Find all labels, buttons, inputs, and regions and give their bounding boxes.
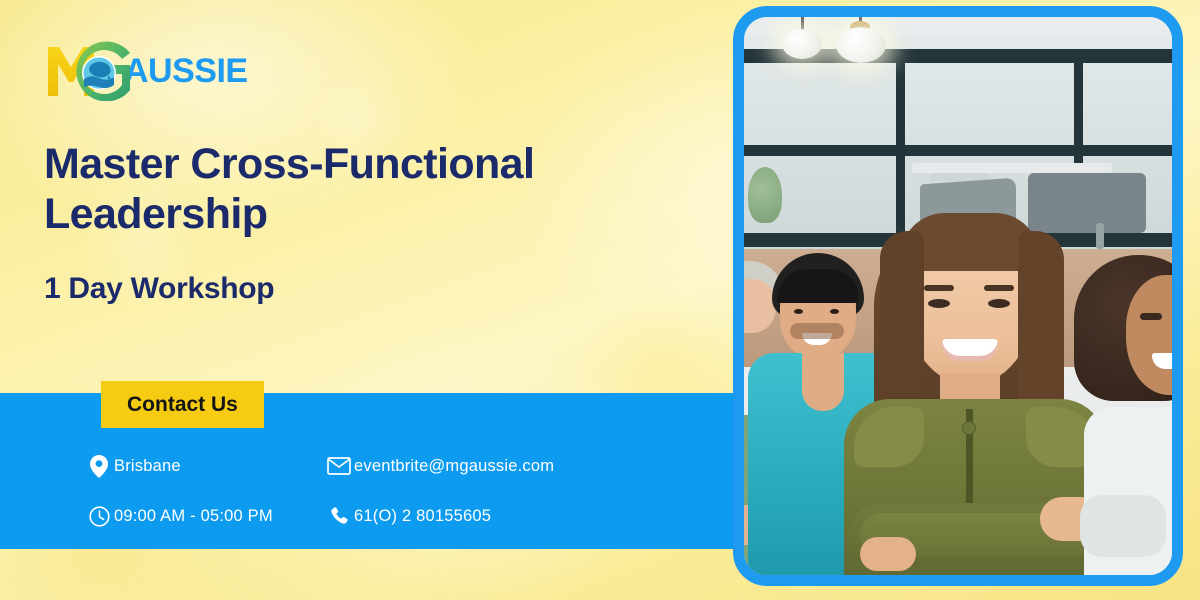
envelope-icon xyxy=(324,457,354,475)
contact-email-text: eventbrite@mgaussie.com xyxy=(354,457,554,476)
brand-logo-text: AUSSIE xyxy=(124,54,248,88)
contact-us-button[interactable]: Contact Us xyxy=(101,381,264,428)
contact-time: 09:00 AM - 05:00 PM xyxy=(84,506,324,527)
contact-phone-text: 61(O) 2 80155605 xyxy=(354,507,491,526)
contact-email[interactable]: eventbrite@mgaussie.com xyxy=(324,457,554,476)
contact-phone[interactable]: 61(O) 2 80155605 xyxy=(324,506,491,526)
event-subtitle: 1 Day Workshop xyxy=(44,272,274,306)
contact-row-time-phone: 09:00 AM - 05:00 PM 61(O) 2 80155605 xyxy=(84,496,704,536)
mg-logo-mark-icon xyxy=(44,41,130,101)
brand-logo[interactable]: AUSSIE xyxy=(44,40,248,102)
event-photo xyxy=(744,17,1172,575)
location-pin-icon xyxy=(84,455,114,478)
event-photo-frame xyxy=(733,6,1183,586)
clock-icon xyxy=(84,506,114,527)
contact-row-location-email: Brisbane eventbrite@mgaussie.com xyxy=(84,446,704,486)
event-title: Master Cross-Functional Leadership xyxy=(44,140,664,240)
contact-location[interactable]: Brisbane xyxy=(84,455,324,478)
phone-icon xyxy=(324,506,354,526)
contact-details: Brisbane eventbrite@mgaussie.com 09:00 A… xyxy=(84,446,704,536)
contact-location-text: Brisbane xyxy=(114,457,181,476)
contact-time-text: 09:00 AM - 05:00 PM xyxy=(114,507,273,526)
